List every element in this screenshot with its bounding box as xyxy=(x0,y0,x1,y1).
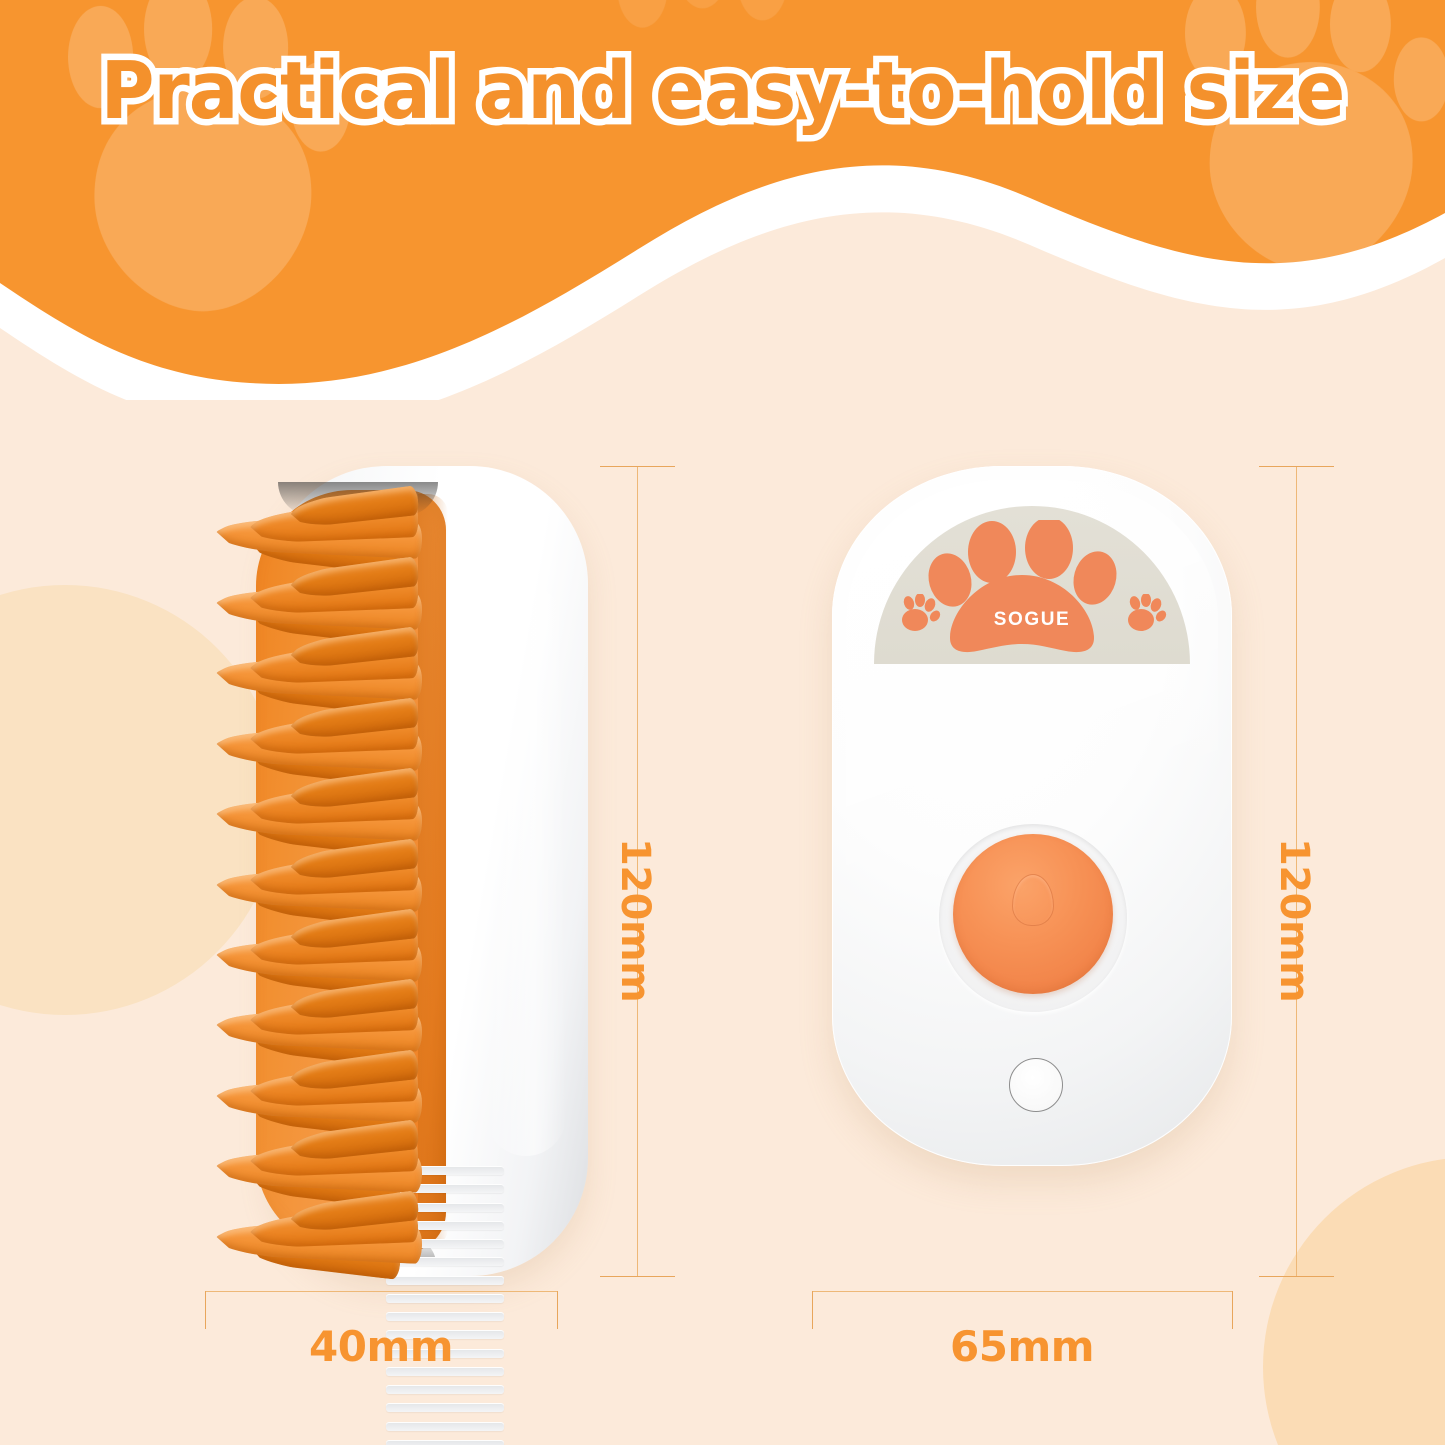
vent-slot xyxy=(386,1422,504,1431)
brush-height-cap-bottom xyxy=(600,1276,675,1277)
paw-pad-emboss-icon xyxy=(1012,874,1054,926)
vent-slot xyxy=(386,1276,504,1285)
brush-height-cap-top xyxy=(600,466,675,467)
header-banner: Practical and easy-to-hold size xyxy=(0,0,1445,400)
brush-bristle-field xyxy=(118,484,418,1259)
brand-name: SOGUE xyxy=(994,609,1071,631)
device-height-cap-bottom xyxy=(1259,1276,1334,1277)
device-width-cap-right xyxy=(1232,1291,1233,1329)
device-width-label: 65mm xyxy=(812,1322,1232,1371)
vent-slot xyxy=(386,1440,504,1445)
device-height-label: 120mm xyxy=(1271,838,1317,898)
small-paw-print-icon xyxy=(1122,594,1168,634)
brush-width-dimension-line xyxy=(205,1291,557,1292)
brush-width-label: 40mm xyxy=(205,1322,557,1371)
infographic-canvas: Practical and easy-to-hold size 120mm 40… xyxy=(0,0,1445,1445)
vent-slot xyxy=(386,1385,504,1394)
background-circle-right xyxy=(1263,1157,1445,1445)
power-button[interactable] xyxy=(953,834,1113,994)
device-height-cap-top xyxy=(1259,466,1334,467)
brush-width-cap-right xyxy=(557,1291,558,1329)
device-width-dimension-line xyxy=(812,1291,1232,1292)
indicator-light xyxy=(1009,1058,1063,1112)
page-title: Practical and easy-to-hold size xyxy=(51,52,1395,131)
brush-height-label: 120mm xyxy=(612,838,658,898)
product-brush xyxy=(118,466,588,1276)
brush-pad-edge-shadow xyxy=(418,494,448,1248)
vent-slot xyxy=(386,1403,504,1412)
product-device: SOGUE xyxy=(832,466,1232,1166)
vent-slot xyxy=(386,1294,504,1303)
vent-slot xyxy=(386,1312,504,1321)
small-paw-print-icon xyxy=(896,594,942,634)
paw-print-icon xyxy=(922,520,1142,655)
